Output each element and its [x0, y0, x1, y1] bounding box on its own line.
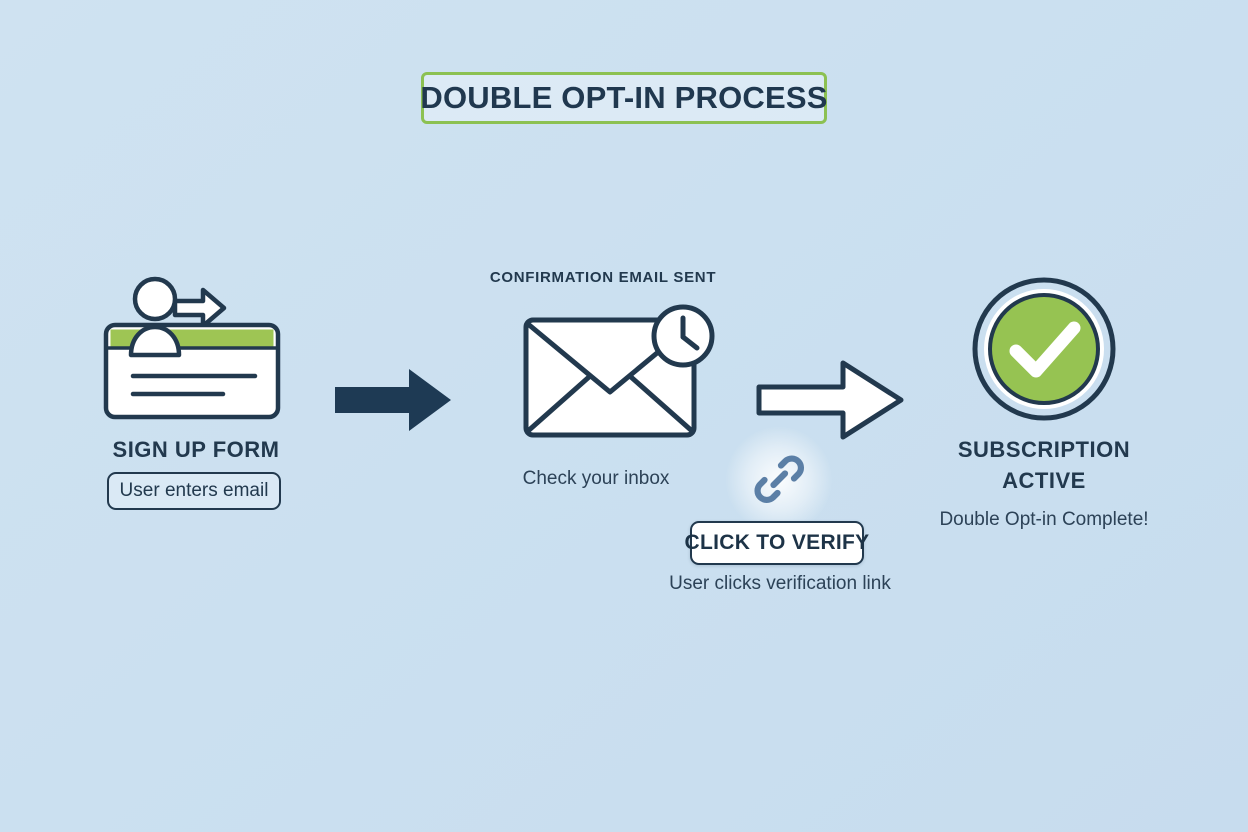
- diagram-canvas: DOUBLE OPT-IN PROCESS SIGN UP FORM User …: [0, 0, 1248, 832]
- signup-form-icon: [100, 268, 290, 423]
- click-to-verify-button[interactable]: CLICK TO VERIFY: [690, 521, 864, 565]
- chain-link-icon[interactable]: [752, 452, 806, 506]
- diagram-title-box: DOUBLE OPT-IN PROCESS: [421, 72, 827, 124]
- signup-email-badge[interactable]: User enters email: [107, 472, 281, 510]
- step-title-signup: SIGN UP FORM: [76, 434, 316, 465]
- step-caption-check-inbox: Check your inbox: [476, 468, 716, 490]
- envelope-clock-icon: [515, 300, 720, 445]
- step-title-subscription-active-line1: SUBSCRIPTION: [924, 434, 1164, 465]
- page-title: DOUBLE OPT-IN PROCESS: [420, 80, 827, 116]
- step-heading-confirmation-email: CONFIRMATION EMAIL SENT: [463, 269, 743, 286]
- step-title-subscription-active-line2: ACTIVE: [924, 465, 1164, 496]
- arrow-right-filled-icon: [333, 365, 453, 435]
- check-circle-icon: [971, 276, 1117, 422]
- step-caption-double-optin-complete: Double Opt-in Complete!: [924, 509, 1164, 531]
- step-caption-verification-link: User clicks verification link: [649, 573, 911, 595]
